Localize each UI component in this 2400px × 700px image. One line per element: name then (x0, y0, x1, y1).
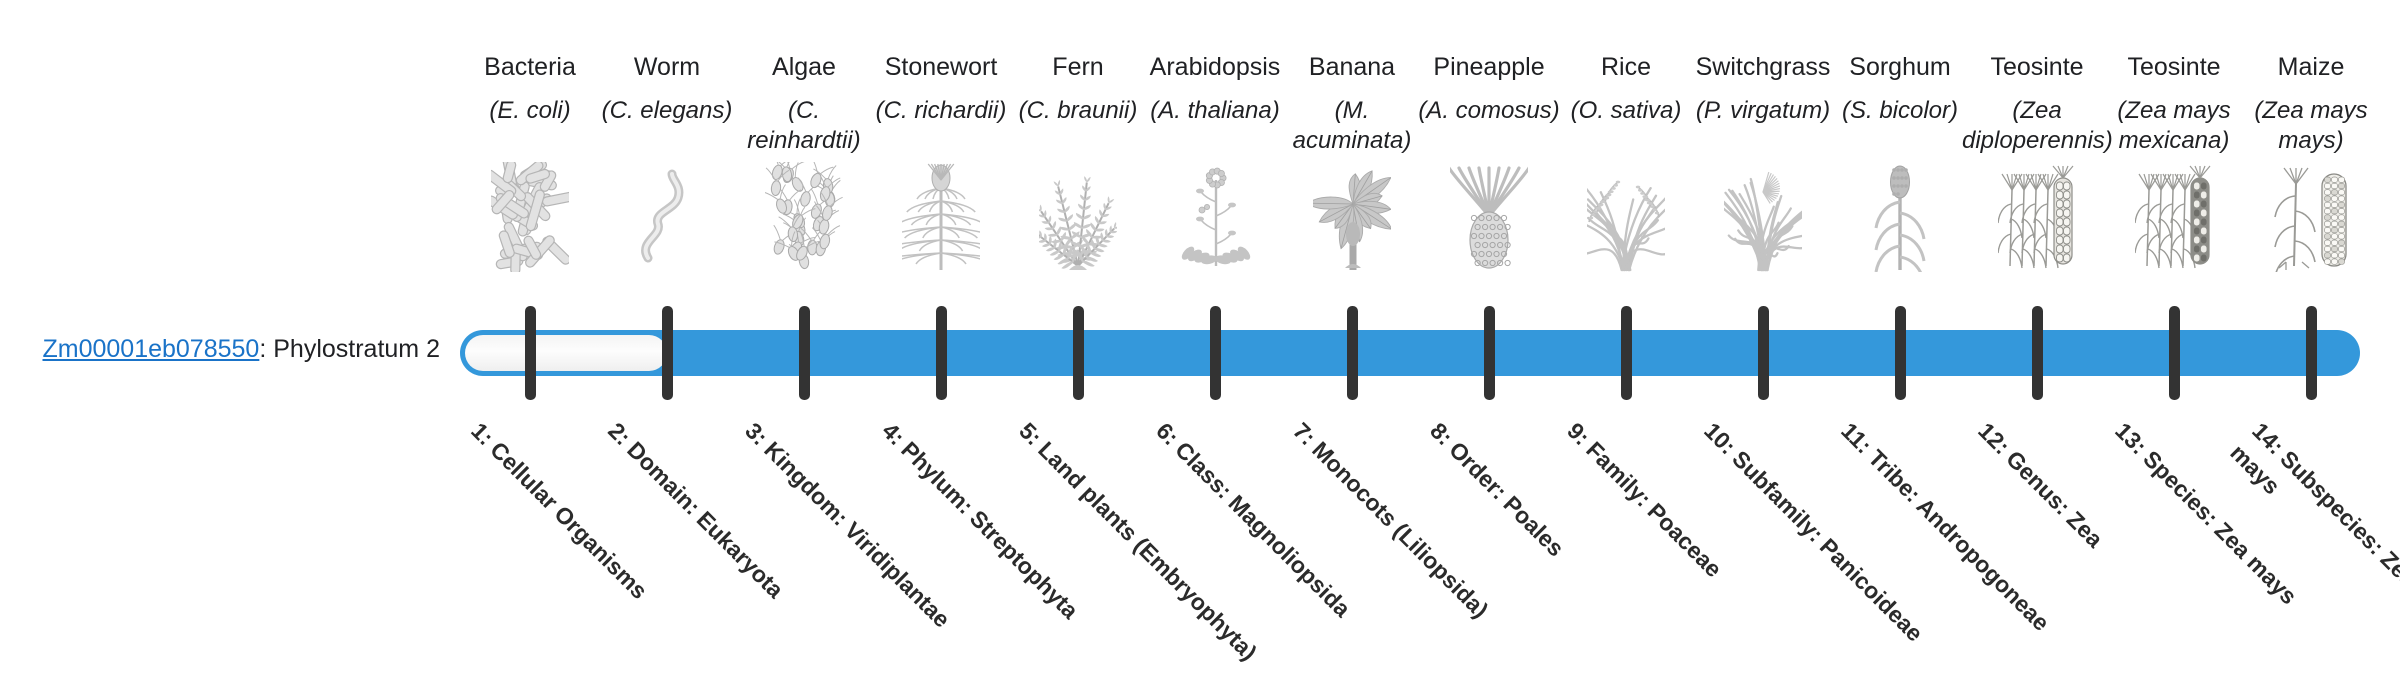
phylostratum-label-2: 2: Domain: Eukaryota (601, 416, 863, 678)
stonewort-icon (866, 162, 1016, 272)
phylostratum-number: 14: (2247, 417, 2289, 459)
species-scientific-name: (E. coli) (455, 96, 605, 156)
phylostratum-label-13: 13: Species: Zea mays (2108, 416, 2370, 678)
species-column-teosinte: Teosinte(Zea diploperennis) (1962, 52, 2112, 272)
maize-icon (2236, 162, 2386, 272)
species-scientific-name: (Zea mays mays) (2236, 96, 2386, 156)
species-column-rice: Rice(O. sativa) (1551, 52, 1701, 272)
phylostratum-tick-7[interactable] (1347, 306, 1358, 400)
phylostratum-track[interactable] (460, 330, 2360, 376)
gene-separator: : (259, 335, 273, 363)
species-scientific-name: (C. braunii) (1003, 96, 1153, 156)
phylostratum-tick-5[interactable] (1073, 306, 1084, 400)
phylostratum-tick-1[interactable] (525, 306, 536, 400)
phylostratum-name: Tribe: Andropogoneae (1863, 445, 2054, 636)
phylostratum-number: 5: (1014, 417, 1047, 450)
phylostratum-number: 1: (466, 417, 499, 450)
species-common-name: Sorghum (1825, 52, 1975, 82)
species-common-name: Stonewort (866, 52, 1016, 82)
gene-phylostratum-label: Zm00001eb078550: Phylostratum 2 (0, 334, 440, 364)
bacteria-icon (455, 162, 605, 272)
gene-id-link[interactable]: Zm00001eb078550 (42, 335, 259, 363)
phylostratum-tick-13[interactable] (2169, 306, 2180, 400)
phylostratum-number: 7: (1288, 417, 1321, 450)
species-column-pineapple: Pineapple(A. comosus) (1414, 52, 1564, 272)
phylostratum-bar-filled (460, 330, 2360, 376)
phylostratum-name: Domain: Eukaryota (622, 436, 789, 603)
phylostratum-label-5: 5: Land plants (Embryophyta) (1012, 416, 1274, 678)
phylostratum-tick-14[interactable] (2306, 306, 2317, 400)
phylostratum-tick-11[interactable] (1895, 306, 1906, 400)
phylostratum-value-text: Phylostratum 2 (273, 335, 440, 363)
species-scientific-name: (C. elegans) (592, 96, 742, 156)
phylostratum-name: Class: Magnoliopsida (1170, 436, 1356, 622)
teosinte-mex-icon (2099, 162, 2249, 272)
switchgrass-icon (1688, 162, 1838, 272)
species-scientific-name: (C. reinhardtii) (729, 96, 879, 156)
phylostratum-label-6: 6: Class: Magnoliopsida (1149, 416, 1411, 678)
phylostratum-tick-8[interactable] (1484, 306, 1495, 400)
species-scientific-name: (M. acuminata) (1277, 96, 1427, 156)
species-scientific-name: (S. bicolor) (1825, 96, 1975, 156)
phylostratum-label-10: 10: Subfamily: Panicoideae (1697, 416, 1959, 678)
phylostratum-number: 11: (1836, 417, 1877, 458)
phylostratum-name: Family: Poaceae (1581, 436, 1727, 582)
phylostratum-name: Phylum: Streptophyta (896, 436, 1083, 623)
species-column-stonewort: Stonewort(C. richardii) (866, 52, 1016, 272)
phylostratum-label-12: 12: Genus: Zea (1971, 416, 2233, 678)
species-common-name: Banana (1277, 52, 1427, 82)
species-column-bacteria: Bacteria(E. coli) (455, 52, 605, 272)
phylostratum-bar-unfilled (465, 335, 667, 371)
phylostratum-number: 12: (1973, 417, 2015, 459)
species-column-maize: Maize(Zea mays mays) (2236, 52, 2386, 272)
sorghum-icon (1825, 162, 1975, 272)
species-common-name: Fern (1003, 52, 1153, 82)
phylostratum-number: 4: (877, 417, 910, 450)
phylostratum-label-14: 14: Subspecies: Zea mays mays (2223, 416, 2400, 700)
phylostratum-number: 2: (603, 417, 636, 450)
phylostratum-number: 10: (1699, 417, 1741, 459)
phylostratum-name: Land plants (Embryophyta) (1033, 436, 1262, 665)
worm-icon (592, 162, 742, 272)
phylostratum-label-11: 11: Tribe: Andropogoneae (1834, 416, 2096, 678)
phylostratum-number: 8: (1425, 417, 1458, 450)
phylostratum-name: Kingdom: Viridiplantae (759, 436, 955, 632)
species-column-arabidopsis: Arabidopsis(A. thaliana) (1140, 52, 1290, 272)
species-scientific-name: (A. thaliana) (1140, 96, 1290, 156)
phylostratum-name: Species: Zea mays (2138, 445, 2302, 609)
species-common-name: Maize (2236, 52, 2386, 82)
phylostratum-name: Monocots (Liliopsida) (1307, 436, 1493, 622)
species-common-name: Pineapple (1414, 52, 1564, 82)
rice-icon (1551, 162, 1701, 272)
species-common-name: Algae (729, 52, 879, 82)
species-scientific-name: (P. virgatum) (1688, 96, 1838, 156)
phylostratum-tick-10[interactable] (1758, 306, 1769, 400)
phylostratum-number: 3: (740, 417, 773, 450)
species-scientific-name: (Zea mays mexicana) (2099, 96, 2249, 156)
phylostratum-tick-12[interactable] (2032, 306, 2043, 400)
species-common-name: Bacteria (455, 52, 605, 82)
species-scientific-name: (C. richardii) (866, 96, 1016, 156)
phylostratum-label-3: 3: Kingdom: Viridiplantae (738, 416, 1000, 678)
phylostratum-name: Subfamily: Panicoideae (1727, 445, 1928, 646)
phylostratum-tick-6[interactable] (1210, 306, 1221, 400)
species-column-worm: Worm(C. elegans) (592, 52, 742, 272)
species-common-name: Arabidopsis (1140, 52, 1290, 82)
phylostratum-label-4: 4: Phylum: Streptophyta (875, 416, 1137, 678)
species-common-name: Rice (1551, 52, 1701, 82)
phylostratum-tick-2[interactable] (662, 306, 673, 400)
phylostratum-label-8: 8: Order: Poales (1423, 416, 1685, 678)
phylostratum-name: Genus: Zea (2001, 445, 2108, 552)
pineapple-icon (1414, 162, 1564, 272)
fern-icon (1003, 162, 1153, 272)
phylostratum-number: 9: (1562, 417, 1595, 450)
phylostratum-tick-9[interactable] (1621, 306, 1632, 400)
species-column-banana: Banana(M. acuminata) (1277, 52, 1427, 272)
species-common-name: Worm (592, 52, 742, 82)
phylostratum-label-7: 7: Monocots (Liliopsida) (1286, 416, 1548, 678)
arabidopsis-icon (1140, 162, 1290, 272)
phylostratum-name: Subspecies: Zea mays mays (2225, 439, 2400, 638)
phylostratum-tick-4[interactable] (936, 306, 947, 400)
species-common-name: Teosinte (1962, 52, 2112, 82)
species-column-sorghum: Sorghum(S. bicolor) (1825, 52, 1975, 272)
algae-icon (729, 162, 879, 272)
teosinte-diplo-icon (1962, 162, 2112, 272)
species-column-fern: Fern(C. braunii) (1003, 52, 1153, 272)
phylostratum-tick-3[interactable] (799, 306, 810, 400)
species-common-name: Teosinte (2099, 52, 2249, 82)
species-column-switchgrass: Switchgrass(P. virgatum) (1688, 52, 1838, 272)
species-common-name: Switchgrass (1688, 52, 1838, 82)
species-scientific-name: (O. sativa) (1551, 96, 1701, 156)
phylostratum-name: Cellular Organisms (485, 436, 653, 604)
species-column-teosinte: Teosinte(Zea mays mexicana) (2099, 52, 2249, 272)
species-column-algae: Algae(C. reinhardtii) (729, 52, 879, 272)
phylostratum-number: 13: (2110, 417, 2152, 459)
phylostratum-number: 6: (1151, 417, 1184, 450)
banana-icon (1277, 162, 1427, 272)
phylostratum-name: Order: Poales (1444, 436, 1569, 561)
phylostratum-label-1: 1: Cellular Organisms (464, 416, 726, 678)
species-scientific-name: (A. comosus) (1414, 96, 1564, 156)
species-scientific-name: (Zea diploperennis) (1962, 96, 2112, 156)
phylostratum-label-9: 9: Family: Poaceae (1560, 416, 1822, 678)
